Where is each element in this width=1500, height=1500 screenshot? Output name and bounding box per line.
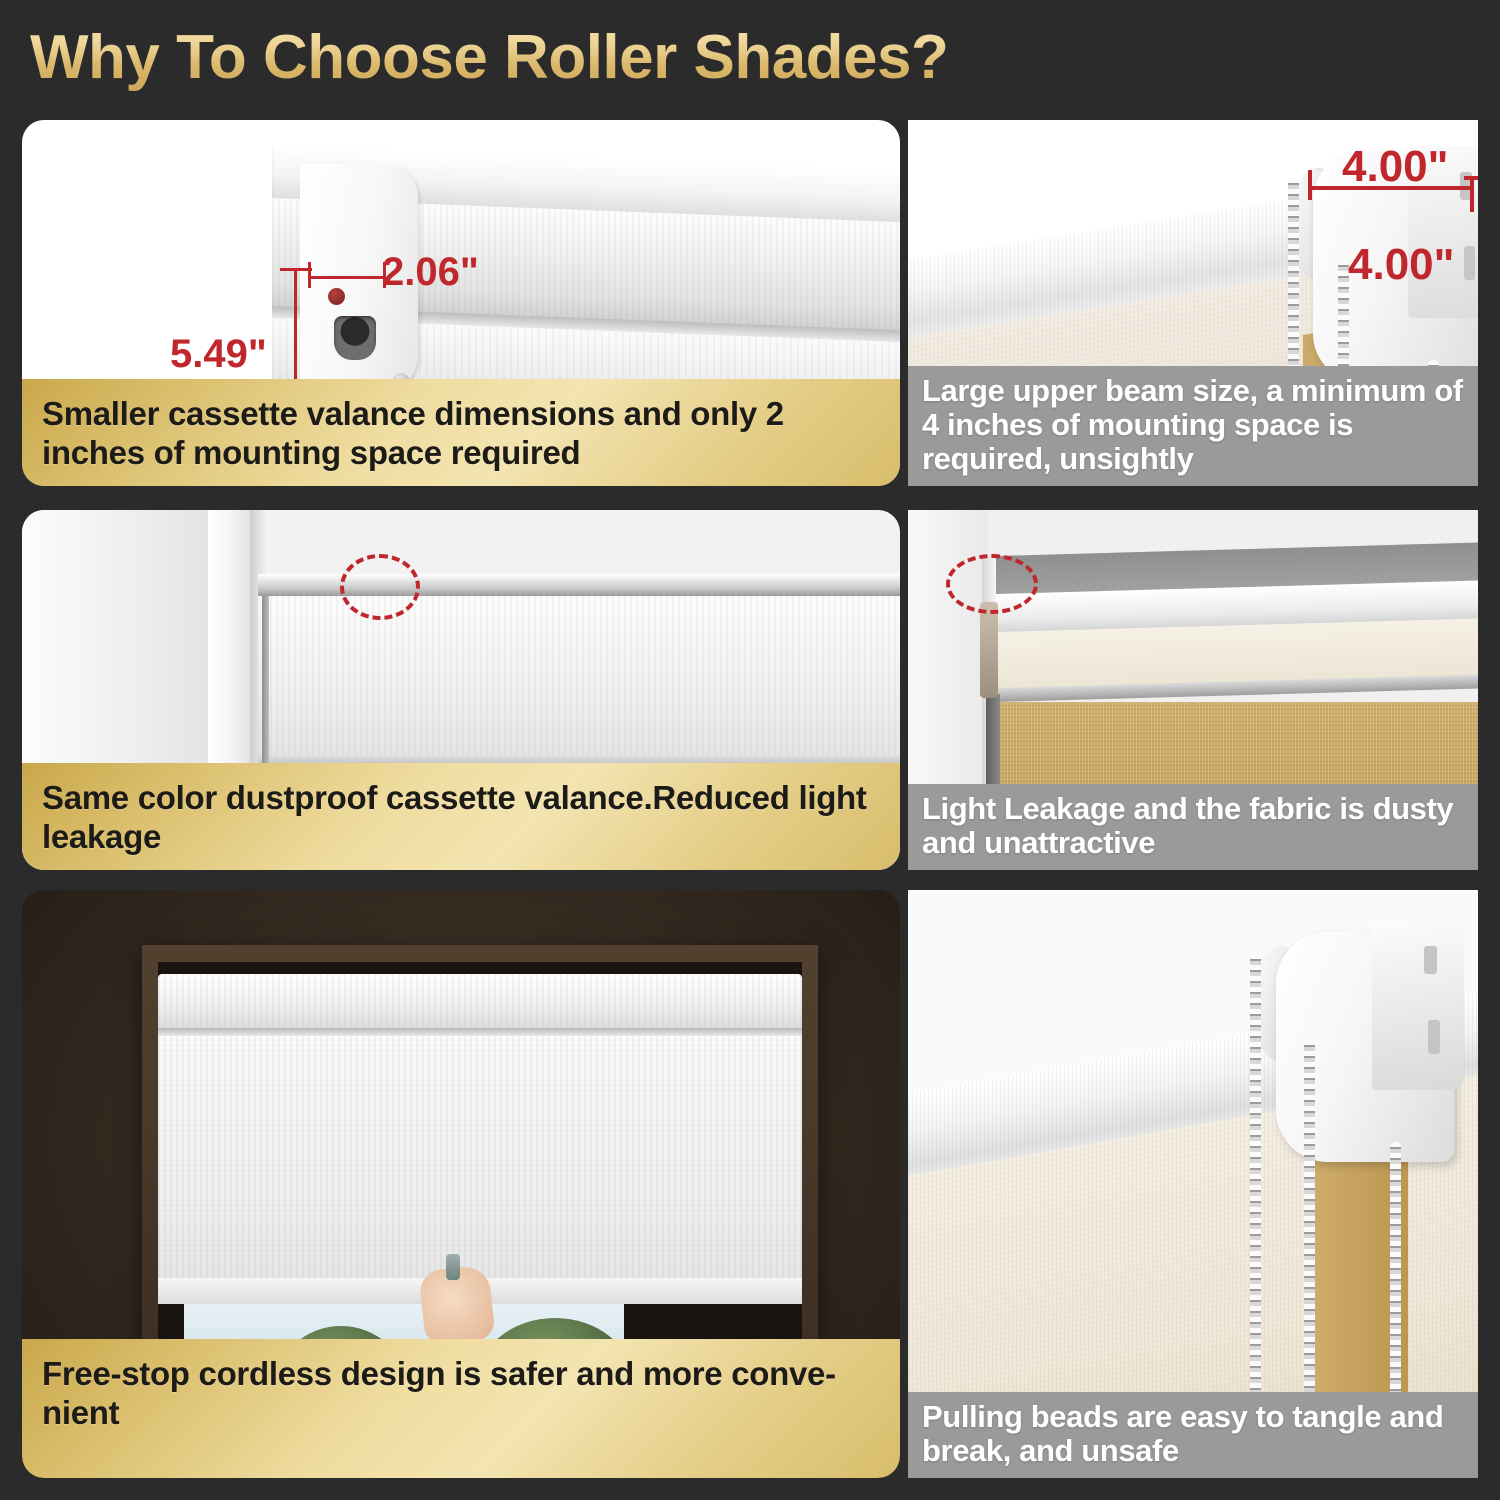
- panel-caption-bad: Pulling beads are easy to tangle and bre…: [908, 1392, 1478, 1478]
- screw-red-icon: [328, 288, 345, 305]
- height-dimension-label: 5.49": [170, 332, 267, 377]
- bead-chain-icon: [1250, 954, 1261, 1424]
- width-dimension-tick-left: [1308, 170, 1312, 200]
- panel-large-beam: 4.00" 4.00" Large upper beam size, a min…: [908, 120, 1478, 486]
- panel-smaller-gap: smaller gap Same color dustproof cassett…: [22, 510, 900, 870]
- roller-slot: [334, 316, 376, 360]
- pull-handle: [446, 1254, 460, 1280]
- panel-caption-good: Smaller cassette valance dimensions and …: [22, 379, 900, 486]
- height-dimension-label: 4.00": [1348, 240, 1455, 290]
- exposed-hardware: [980, 602, 998, 698]
- highlight-ellipse-icon: [946, 554, 1038, 614]
- panel-caption-good: Same color dustproof cassette valance.Re…: [22, 763, 900, 870]
- bead-chain-icon: [1304, 1040, 1315, 1430]
- bracket-slot-lower: [1464, 246, 1475, 280]
- panel-cassette-dimensions: 5.49" 2.06" Smaller cassette valance dim…: [22, 120, 900, 486]
- bracket-slot-upper: [1424, 946, 1437, 974]
- bracket-plate: [1372, 920, 1464, 1090]
- panel-caption-bad: Large upper beam size, a minimum of 4 in…: [908, 366, 1478, 486]
- panel-large-gap: Large gap Light Leakage and the fabric i…: [908, 510, 1478, 870]
- bracket-slot-lower: [1428, 1020, 1440, 1054]
- caption-line-1: Free-stop cordless design is safer and m…: [42, 1355, 836, 1392]
- highlight-ellipse-icon: [340, 554, 420, 620]
- bead-chain-icon: [1390, 1142, 1401, 1432]
- depth-dimension-line: [308, 276, 386, 279]
- cassette-valance: [158, 974, 802, 1032]
- panel-pulling-beads: Pulling beads are easy to tangle and bre…: [908, 890, 1478, 1478]
- shade-fabric-upper: [258, 596, 900, 758]
- shade-fabric: [158, 1036, 802, 1286]
- panel-caption-bad: Light Leakage and the fabric is dusty an…: [908, 784, 1478, 870]
- page-title: Why To Choose Roller Shades?: [30, 18, 1130, 98]
- panel-cordless-design: Free-stop cordless design is safer and m…: [22, 890, 900, 1478]
- width-dimension-label: 4.00": [1342, 142, 1449, 192]
- depth-dimension-tick-left: [308, 262, 311, 288]
- caption-line-2: nient: [42, 1394, 119, 1431]
- height-dimension-tick-top: [1464, 176, 1478, 180]
- panel-caption-good: Free-stop cordless design is safer and m…: [22, 1339, 900, 1478]
- width-dimension-tick-right: [1470, 176, 1474, 212]
- depth-dimension-label: 2.06": [382, 250, 479, 295]
- photo-bead-chain-shade: [908, 890, 1478, 1478]
